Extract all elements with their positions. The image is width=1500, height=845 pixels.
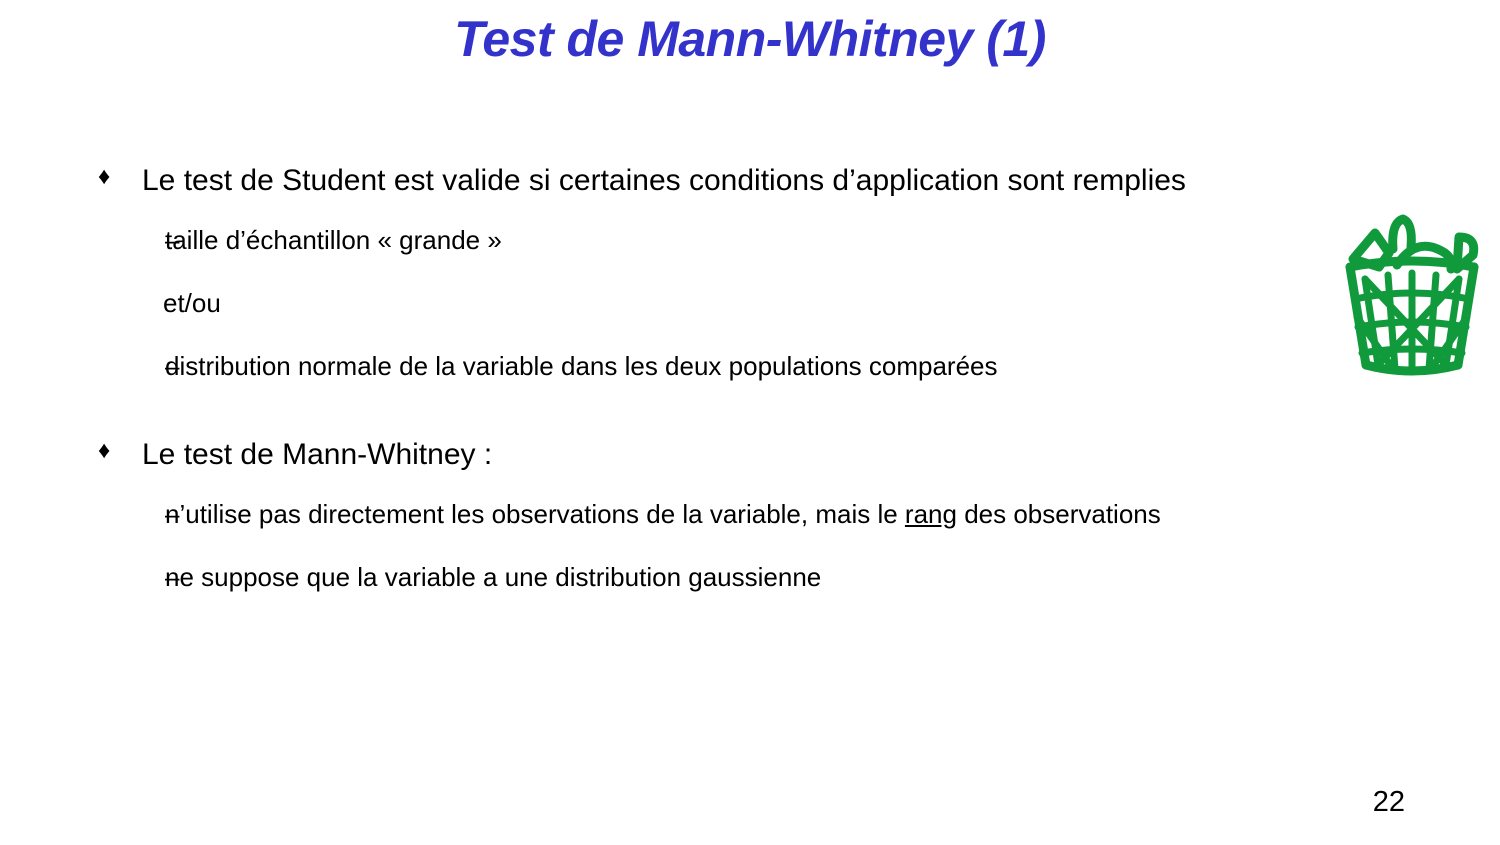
wastebasket-icon — [1333, 207, 1491, 382]
spacer — [88, 477, 1318, 495]
bullet-item-1: ♦ Le test de Student est valide si certa… — [88, 158, 1318, 203]
slide: Test de Mann-Whitney (1) ♦ Le test de St… — [0, 0, 1500, 845]
underlined-term: rang — [905, 499, 957, 529]
sub-bullet-item-1-1: – taille d’échantillon « grande » — [88, 221, 1318, 260]
spacer — [88, 260, 1318, 284]
spacer — [88, 386, 1318, 432]
dash-bullet-icon: – — [88, 558, 165, 597]
dash-bullet-icon: – — [88, 495, 165, 534]
text-before-underline: n’utilise pas directement les observatio… — [165, 499, 905, 529]
sub-bullet-item-2-1: – n’utilise pas directement les observat… — [88, 495, 1318, 534]
sub-bullet-item-1-2-text: distribution normale de la variable dans… — [165, 347, 1260, 386]
dash-bullet-icon: – — [88, 221, 165, 260]
sub-bullet-item-2-2-text: ne suppose que la variable a une distrib… — [165, 558, 1260, 597]
diamond-bullet-icon: ♦ — [88, 432, 142, 469]
spacer — [88, 203, 1318, 221]
bullet-item-2-text: Le test de Mann-Whitney : — [142, 432, 1318, 477]
sub-bullet-item-1-1-text: taille d’échantillon « grande » — [165, 221, 1260, 260]
sub-bullet-item-1-2: – distribution normale de la variable da… — [88, 347, 1318, 386]
conjunction-line: et/ou — [88, 284, 1318, 323]
spacer — [88, 323, 1318, 347]
bullet-item-2: ♦ Le test de Mann-Whitney : — [88, 432, 1318, 477]
page-number: 22 — [1373, 788, 1405, 817]
bullet-item-1-text: Le test de Student est valide si certain… — [142, 158, 1318, 203]
text-after-underline: des observations — [957, 499, 1161, 529]
dash-bullet-icon: – — [88, 347, 165, 386]
sub-bullet-item-2-2: – ne suppose que la variable a une distr… — [88, 558, 1318, 597]
page-title: Test de Mann-Whitney (1) — [0, 12, 1500, 67]
sub-bullet-item-2-1-text: n’utilise pas directement les observatio… — [165, 495, 1260, 534]
diamond-bullet-icon: ♦ — [88, 158, 142, 195]
spacer — [88, 534, 1318, 558]
slide-body: ♦ Le test de Student est valide si certa… — [88, 158, 1318, 597]
